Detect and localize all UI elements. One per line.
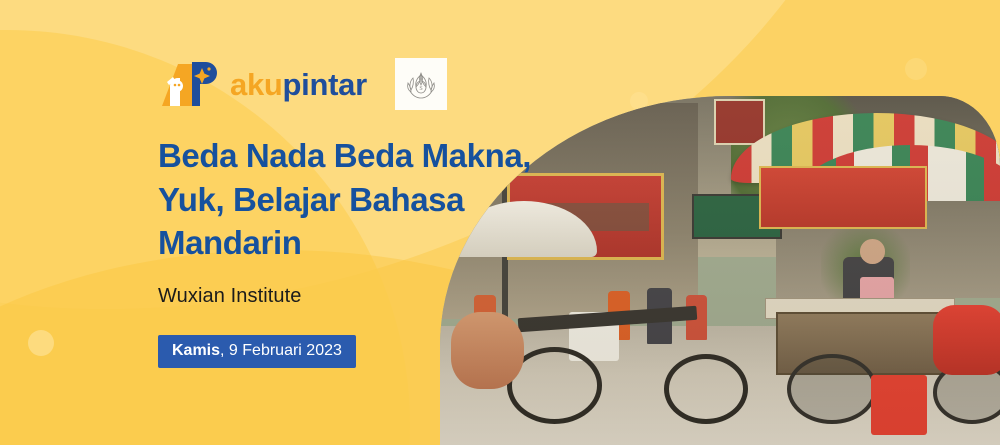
organizer-name: Wuxian Institute [158, 285, 302, 308]
partner-logo[interactable]: S [395, 58, 447, 110]
date-day: Kamis [172, 342, 220, 359]
date-rest: , 9 Februari 2023 [220, 342, 342, 359]
akupintar-logo[interactable]: akupintar [158, 60, 367, 108]
logo-word-aku: aku [230, 67, 283, 102]
decorative-dot [905, 58, 927, 80]
akupintar-wordmark: akupintar [230, 69, 367, 100]
page-title: Beda Nada Beda Makna, Yuk, Belajar Bahas… [158, 134, 588, 265]
wuxian-lotus-crest-icon: S [401, 64, 441, 104]
svg-text:S: S [419, 86, 422, 92]
akupintar-ap-monogram-icon [158, 60, 222, 108]
date-badge: Kamis, 9 Februari 2023 [158, 335, 356, 368]
decorative-dot [28, 330, 54, 356]
webinar-banner: akupintar S Beda Nada Beda Ma [0, 0, 1000, 445]
logo-row: akupintar S [158, 58, 447, 110]
logo-word-pintar: pintar [283, 67, 367, 102]
